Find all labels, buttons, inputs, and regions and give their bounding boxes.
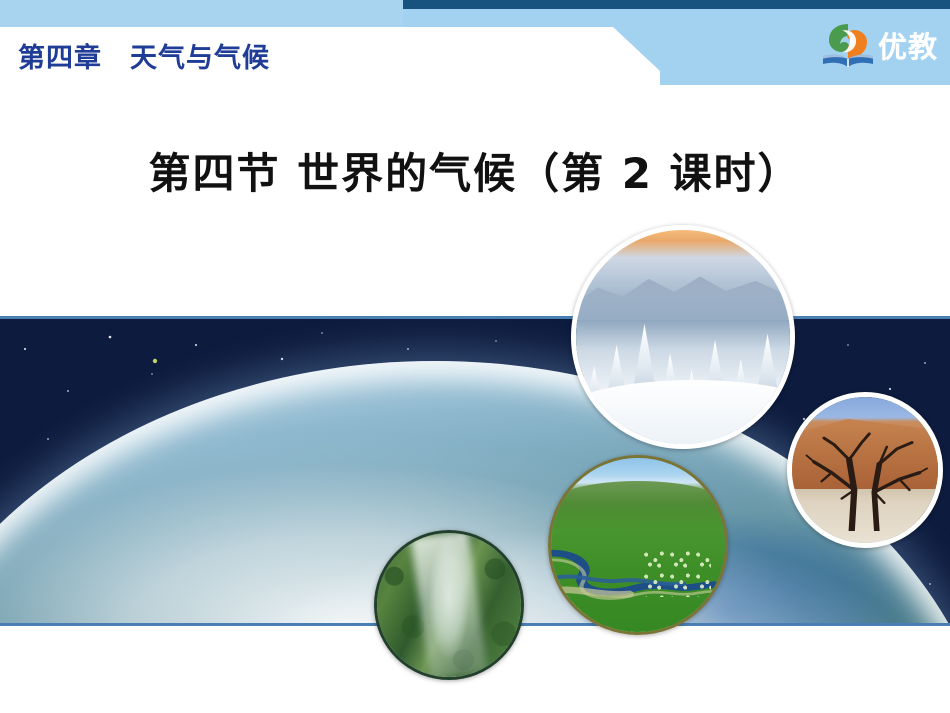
desert-scene-art: [792, 397, 938, 543]
rainforest-scene-art: [377, 533, 521, 677]
chapter-title: 第四章 天气与气候: [18, 36, 270, 75]
header-navy-stripe: [403, 0, 950, 9]
slide-header: 第四章 天气与气候: [0, 0, 950, 110]
snow-forest-photo[interactable]: [571, 225, 795, 449]
snow-scene-art: [576, 230, 790, 444]
grass-hills: [551, 481, 725, 505]
page-title: 第四节 世界的气候（第 2 课时）: [0, 140, 950, 201]
header-white-underline: [0, 85, 950, 110]
snow-ground: [571, 380, 795, 449]
desert-photo[interactable]: [787, 392, 943, 548]
brand-logo[interactable]: 优教: [820, 18, 940, 70]
yinyang-swirl-book-icon: [820, 18, 876, 70]
grass-flowers: [641, 548, 711, 597]
dead-tree: [804, 423, 930, 531]
header-band-left: [0, 0, 403, 27]
presentation-slide: 第四章 天气与气候: [0, 0, 950, 713]
rainforest-photo[interactable]: [374, 530, 524, 680]
brand-logo-text: 优教: [878, 24, 938, 66]
grassland-photo[interactable]: [548, 455, 728, 635]
grassland-scene-art: [551, 458, 725, 632]
